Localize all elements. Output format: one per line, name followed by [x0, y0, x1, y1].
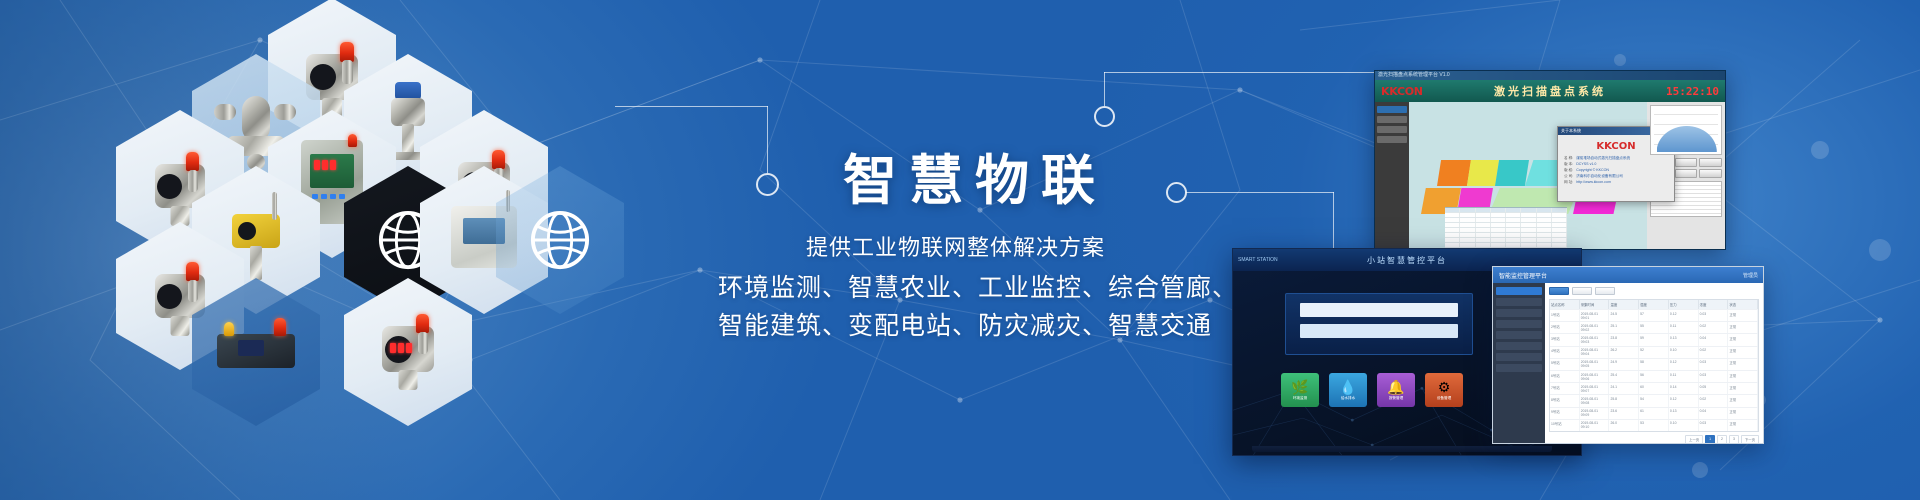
laser-action-button[interactable]: [1675, 158, 1698, 167]
screenshot-data-table-window[interactable]: 智能监控管理平台 管理员: [1492, 266, 1764, 444]
table-window-body: 站点名称 采集时间 温度 湿度 压力 浓度 状态 1号站 2019-08-01 …: [1493, 283, 1763, 444]
table-pagination[interactable]: 上一页 1 2 3 下一页: [1549, 435, 1759, 444]
globe-icon: [529, 209, 591, 271]
query-button[interactable]: [1549, 287, 1569, 295]
table-user-label: 管理员: [1743, 272, 1758, 279]
sidebar-item-alarms[interactable]: [1496, 309, 1542, 317]
laser-about-row: 网 址: http://www.kkcon.com: [1558, 180, 1674, 186]
cell: 2019-08-01 09:10: [1580, 420, 1610, 431]
subtitle-line-1: 提供工业物联网整体解决方案: [806, 230, 1105, 262]
dashboard-icon-alarm[interactable]: 🔔 报警管理: [1377, 373, 1415, 407]
cell: 4号站: [1550, 347, 1580, 358]
cell: 60: [1639, 383, 1669, 394]
laser-about-label: 名 称:: [1564, 156, 1573, 161]
cell: 2019-08-01 09:06: [1580, 371, 1610, 382]
cell: 2019-08-01 09:01: [1580, 310, 1610, 321]
laser-sidebar-item[interactable]: [1377, 126, 1407, 133]
cell: 55: [1639, 322, 1669, 333]
dashboard-icon-label: 给水排水: [1341, 396, 1355, 401]
cell: 9号站: [1550, 408, 1580, 419]
laser-sidebar-item[interactable]: [1377, 136, 1407, 143]
cell: 25.8: [1609, 395, 1639, 406]
cell: 0.04: [1699, 408, 1729, 419]
sidebar-item-devices[interactable]: [1496, 331, 1542, 339]
connector-node-mid-right: [1166, 182, 1187, 203]
cell: 2019-08-01 09:09: [1580, 408, 1610, 419]
cell: 0.13: [1669, 334, 1699, 345]
column-header: 温度: [1609, 300, 1639, 309]
cell: 52: [1639, 347, 1669, 358]
laser-sidebar-item[interactable]: [1377, 106, 1407, 113]
cell: 2号站: [1550, 322, 1580, 333]
cell: 53: [1639, 420, 1669, 431]
laser-action-button[interactable]: [1699, 169, 1722, 178]
table-row[interactable]: 6号站 2019-08-01 09:06 25.4 56 0.11 0.03 正…: [1550, 370, 1758, 382]
device-controller-box-dual-lamp: [212, 300, 300, 404]
sidebar-item-stations[interactable]: [1496, 298, 1542, 306]
dashboard-password-input[interactable]: [1300, 324, 1458, 338]
slab-yellow: [1467, 160, 1499, 186]
column-header: 站点名称: [1550, 300, 1580, 309]
table-row[interactable]: 2号站 2019-08-01 09:02 25.1 55 0.11 0.02 正…: [1550, 321, 1758, 333]
subtitle-line-3: 智能建筑、变配电站、防灾减灾、智慧交通: [718, 306, 1212, 342]
cell: 24.1: [1609, 383, 1639, 394]
pagination-page-1[interactable]: 1: [1705, 435, 1715, 444]
table-row[interactable]: 9号站 2019-08-01 09:09 23.6 61 0.13 0.04 正…: [1550, 407, 1758, 419]
cell: 2019-08-01 09:04: [1580, 347, 1610, 358]
cell: 0.03: [1699, 420, 1729, 431]
table-row[interactable]: 3号站 2019-08-01 09:03 23.8 59 0.13 0.04 正…: [1550, 333, 1758, 345]
cell: 0.03: [1699, 310, 1729, 321]
connector-line-mid-right-horizontal: [1186, 192, 1334, 193]
dashboard-icon-device[interactable]: ⚙ 设备管理: [1425, 373, 1463, 407]
cell: 正常: [1728, 371, 1758, 382]
cell: 7号站: [1550, 383, 1580, 394]
connector-node-top-right: [1094, 106, 1115, 127]
pagination-next[interactable]: 下一页: [1741, 435, 1759, 444]
cell: 0.10: [1669, 347, 1699, 358]
cell: 正常: [1728, 420, 1758, 431]
cell: 1号站: [1550, 310, 1580, 321]
slab-cyan: [1495, 160, 1529, 186]
pagination-prev[interactable]: 上一页: [1685, 435, 1703, 444]
table-row[interactable]: 10号站 2019-08-01 09:10 26.0 53 0.10 0.03 …: [1550, 419, 1758, 431]
cell: 0.11: [1669, 371, 1699, 382]
laser-about-label: 版 权:: [1564, 168, 1573, 173]
cell: 0.14: [1669, 383, 1699, 394]
laser-clock: 15:22:10: [1666, 85, 1719, 98]
table-row[interactable]: 1号站 2019-08-01 09:01 24.5 57 0.12 0.03 正…: [1550, 309, 1758, 321]
cell: 0.11: [1669, 322, 1699, 333]
data-table[interactable]: 站点名称 采集时间 温度 湿度 压力 浓度 状态 1号站 2019-08-01 …: [1549, 299, 1759, 432]
laser-window-title: 激光扫描盘点系统管理平台 V1.0: [1375, 71, 1725, 80]
dashboard-icon-label: 环境监测: [1293, 396, 1307, 401]
dashboard-icon-row[interactable]: 🌿 环境监测 💧 给水排水 🔔 报警管理 ⚙ 设备管理: [1281, 373, 1463, 407]
table-window-titlebar: 智能监控管理平台 管理员: [1493, 267, 1763, 283]
cell: 24.9: [1609, 359, 1639, 370]
cell: 0.13: [1669, 408, 1699, 419]
cell: 10号站: [1550, 420, 1580, 431]
cell: 23.8: [1609, 334, 1639, 345]
cell: 2019-08-01 09:07: [1580, 383, 1610, 394]
cell: 5号站: [1550, 359, 1580, 370]
sidebar-item-overview[interactable]: [1496, 287, 1542, 295]
cell: 25.4: [1609, 371, 1639, 382]
cell: 24.5: [1609, 310, 1639, 321]
cell: 正常: [1728, 347, 1758, 358]
dashboard-icon-label: 报警管理: [1389, 396, 1403, 401]
connector-line-top-right-horizontal: [1104, 72, 1374, 73]
cell: 2019-08-01 09:02: [1580, 322, 1610, 333]
connector-line-mid-right-vertical: [1333, 192, 1334, 252]
cell: 2019-08-01 09:05: [1580, 359, 1610, 370]
laser-about-value: 煤炭堆场自动式激光扫描盘点系统: [1576, 156, 1630, 161]
cell: 0.12: [1669, 395, 1699, 406]
laser-action-button[interactable]: [1699, 158, 1722, 167]
screenshot-laser-scanning-system[interactable]: 激光扫描盘点系统管理平台 V1.0 KKCON 激光扫描盘点系统 15:22:1…: [1374, 70, 1726, 250]
cell: 正常: [1728, 395, 1758, 406]
dashboard-username-input[interactable]: [1300, 303, 1458, 317]
cell: 2019-08-01 09:03: [1580, 334, 1610, 345]
table-row[interactable]: 7号站 2019-08-01 09:07 24.1 60 0.14 0.05 正…: [1550, 382, 1758, 394]
cell: 2019-08-01 09:08: [1580, 395, 1610, 406]
laser-data-grid[interactable]: [1445, 207, 1567, 250]
cell: 0.03: [1699, 359, 1729, 370]
sidebar-item-settings[interactable]: [1496, 353, 1542, 361]
table-main-area: 站点名称 采集时间 温度 湿度 压力 浓度 状态 1号站 2019-08-01 …: [1545, 283, 1763, 444]
cell: 正常: [1728, 310, 1758, 321]
table-sidebar[interactable]: [1493, 283, 1545, 444]
table-row[interactable]: 8号站 2019-08-01 09:08 25.8 54 0.12 0.02 正…: [1550, 394, 1758, 406]
dashboard-title: 小站智慧管控平台: [1233, 255, 1581, 266]
cell: 57: [1639, 310, 1669, 321]
laser-3d-canvas[interactable]: 关于本系统 KKCON 名 称: 煤炭堆场自动式激光扫描盘点系统 版 本: DC…: [1409, 102, 1647, 250]
dashboard-icon-label: 设备管理: [1437, 396, 1451, 401]
column-header: 湿度: [1639, 300, 1669, 309]
table-row[interactable]: 5号站 2019-08-01 09:05 24.9 58 0.12 0.03 正…: [1550, 358, 1758, 370]
column-header: 浓度: [1699, 300, 1729, 309]
column-header: 状态: [1728, 300, 1758, 309]
page-title: 智慧物联: [843, 136, 1107, 215]
subtitle-line-2: 环境监测、智慧农业、工业监控、综合管廊、: [718, 268, 1238, 304]
cell: 54: [1639, 395, 1669, 406]
cell: 56: [1639, 371, 1669, 382]
dashboard-icon-environment[interactable]: 🌿 环境监测: [1281, 373, 1319, 407]
monitor-stand: [1252, 446, 1552, 452]
table-toolbar[interactable]: [1549, 287, 1759, 295]
laser-about-value: 济南科尔自动化设备有限公司: [1576, 174, 1623, 179]
column-header: 压力: [1669, 300, 1699, 309]
sidebar-item-logs[interactable]: [1496, 364, 1542, 372]
pagination-page-3[interactable]: 3: [1729, 435, 1739, 444]
alarm-icon: 🔔: [1387, 380, 1404, 394]
device-icon: ⚙: [1438, 380, 1451, 394]
cell: 0.05: [1699, 383, 1729, 394]
cell: 0.12: [1669, 359, 1699, 370]
laser-about-label: 公 司:: [1564, 174, 1573, 179]
cell: 0.02: [1699, 395, 1729, 406]
cell: 正常: [1728, 359, 1758, 370]
table-window-title: 智能监控管理平台: [1493, 271, 1547, 280]
add-button[interactable]: [1595, 287, 1615, 295]
cell: 26.0: [1609, 420, 1639, 431]
dashboard-login-card[interactable]: [1285, 293, 1473, 355]
cell: 25.1: [1609, 322, 1639, 333]
laser-about-value: http://www.kkcon.com: [1576, 180, 1611, 185]
cell: 8号站: [1550, 395, 1580, 406]
cell: 0.02: [1699, 322, 1729, 333]
cell: 0.12: [1669, 310, 1699, 321]
laser-action-button[interactable]: [1675, 169, 1698, 178]
table-header-row: 站点名称 采集时间 温度 湿度 压力 浓度 状态: [1550, 300, 1758, 309]
slab-orange: [1437, 160, 1471, 186]
cell: 0.04: [1699, 334, 1729, 345]
connector-node-left: [756, 173, 779, 196]
cell: 0.10: [1669, 420, 1699, 431]
laser-about-value: DCYSS v1.0: [1576, 162, 1596, 167]
hex-gas-detector-bottom-right[interactable]: [344, 278, 472, 426]
cell: 3号站: [1550, 334, 1580, 345]
laser-sidebar-item[interactable]: [1377, 116, 1407, 123]
laser-about-label: 网 址:: [1564, 180, 1573, 185]
laser-trend-chart: [1650, 105, 1722, 155]
laser-body: 关于本系统 KKCON 名 称: 煤炭堆场自动式激光扫描盘点系统 版 本: DC…: [1375, 102, 1725, 250]
device-gas-detector-bottom-right: [364, 300, 452, 404]
laser-about-label: 版 本:: [1564, 162, 1573, 167]
export-button[interactable]: [1572, 287, 1592, 295]
pagination-page-2[interactable]: 2: [1717, 435, 1727, 444]
laser-sidebar[interactable]: [1375, 102, 1409, 250]
sidebar-item-reports[interactable]: [1496, 320, 1542, 328]
laser-about-value: Copyright © KKCON: [1576, 168, 1609, 173]
cell: 正常: [1728, 322, 1758, 333]
cell: 59: [1639, 334, 1669, 345]
connector-line-left-vertical: [767, 106, 768, 173]
cell: 26.2: [1609, 347, 1639, 358]
column-header: 采集时间: [1580, 300, 1610, 309]
iot-solution-banner: 智慧物联 提供工业物联网整体解决方案 环境监测、智慧农业、工业监控、综合管廊、 …: [0, 0, 1920, 500]
water-icon: 💧: [1339, 380, 1356, 394]
cell: 6号站: [1550, 371, 1580, 382]
cell: 23.6: [1609, 408, 1639, 419]
cell: 正常: [1728, 408, 1758, 419]
product-hex-grid: [40, 0, 640, 500]
laser-header: KKCON 激光扫描盘点系统 15:22:10: [1375, 80, 1725, 102]
environment-icon: 🌿: [1291, 380, 1308, 394]
cell: 正常: [1728, 334, 1758, 345]
cell: 58: [1639, 359, 1669, 370]
cell: 正常: [1728, 383, 1758, 394]
cell: 0.02: [1699, 347, 1729, 358]
connector-line-top-right-vertical: [1104, 72, 1105, 106]
sidebar-item-users[interactable]: [1496, 342, 1542, 350]
dashboard-icon-water[interactable]: 💧 给水排水: [1329, 373, 1367, 407]
table-row[interactable]: 4号站 2019-08-01 09:04 26.2 52 0.10 0.02 正…: [1550, 346, 1758, 358]
connector-line-left-horizontal: [615, 106, 768, 107]
cell: 61: [1639, 408, 1669, 419]
cell: 0.03: [1699, 371, 1729, 382]
